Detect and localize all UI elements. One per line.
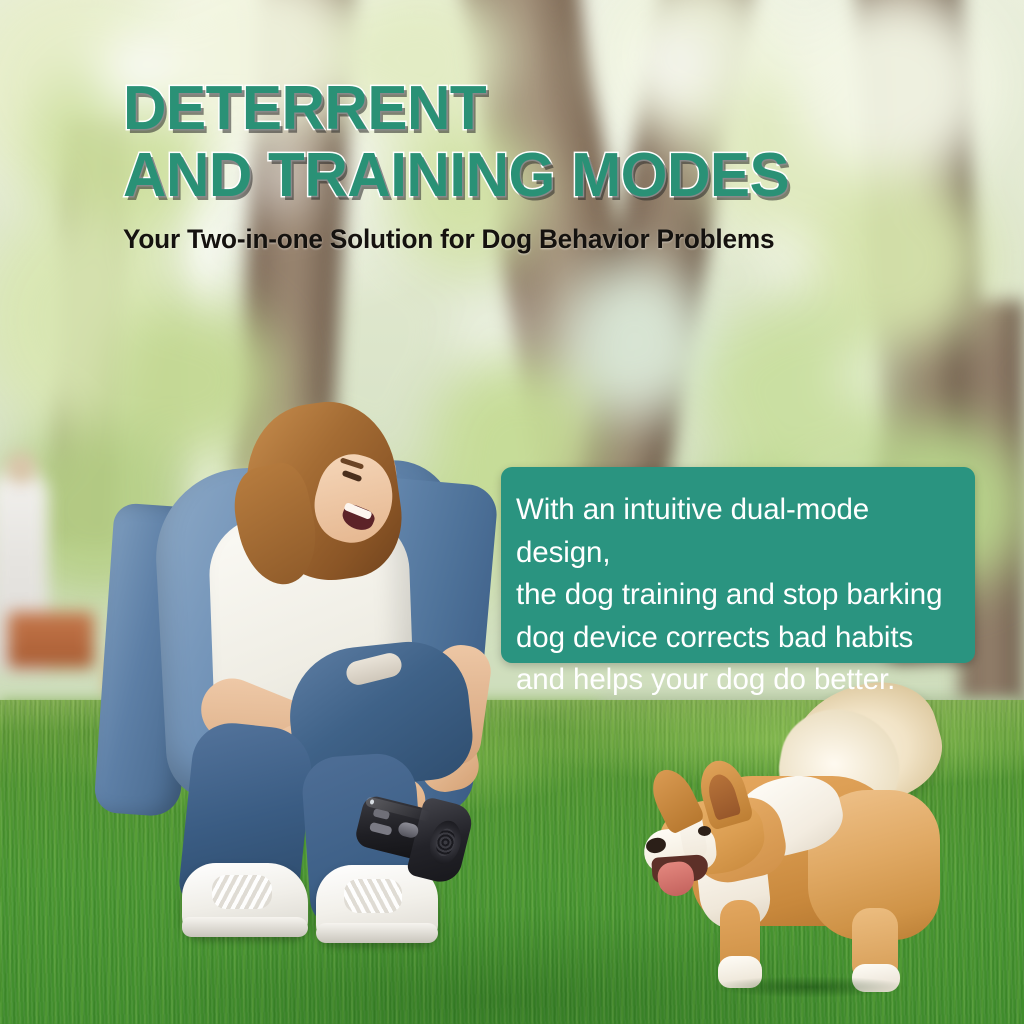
sneaker-right-sole — [316, 923, 438, 943]
product-banner: DETERRENT AND TRAINING MODES Your Two-in… — [0, 0, 1024, 1024]
dog-tongue — [656, 860, 695, 898]
woman-with-device — [120, 395, 540, 935]
headline-line-2: AND TRAINING MODES — [123, 145, 789, 207]
feature-callout-text: With an intuitive dual-mode design, the … — [516, 489, 959, 702]
dog-shadow — [710, 976, 910, 998]
feature-callout-box: With an intuitive dual-mode design, the … — [501, 467, 975, 663]
shoelaces-left — [212, 875, 272, 909]
headline-line-1: DETERRENT — [123, 78, 486, 140]
corgi-dog — [640, 680, 960, 1010]
sneaker-left-sole — [182, 917, 308, 937]
background-person-head — [6, 452, 36, 484]
park-bench — [8, 612, 94, 668]
subtitle: Your Two-in-one Solution for Dog Behavio… — [123, 224, 774, 255]
dog-eye — [698, 826, 711, 836]
